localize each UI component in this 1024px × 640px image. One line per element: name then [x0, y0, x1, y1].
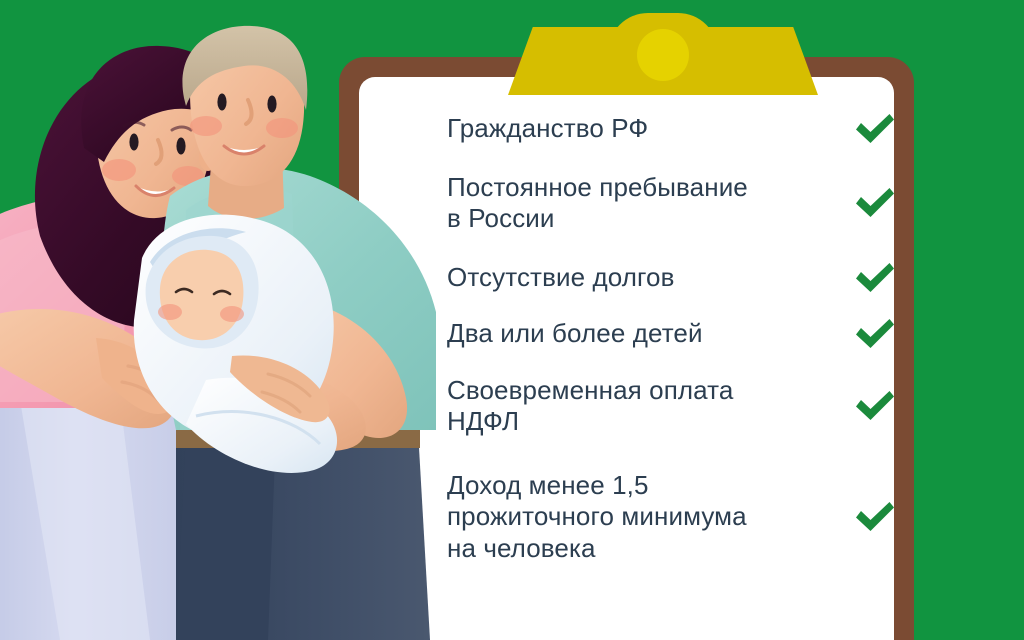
requirements-checklist: Гражданство РФ Постоянное пребывание в Р…	[447, 112, 897, 564]
checklist-item-no-debts: Отсутствие долгов	[447, 261, 897, 295]
checklist-item-ndfl-on-time: Своевременная оплата НДФЛ	[447, 375, 897, 438]
checklist-item-permanent-residence: Постоянное пребывание в России	[447, 172, 897, 235]
check-mark-icon	[853, 112, 897, 146]
checklist-item-label: Гражданство РФ	[447, 113, 648, 144]
checklist-item-label: Своевременная оплата НДФЛ	[447, 375, 733, 438]
checklist-item-label: Два или более детей	[447, 318, 703, 349]
clip-hole-icon	[637, 29, 689, 81]
checklist-item-income-limit: Доход менее 1,5 прожиточного минимума на…	[447, 470, 897, 564]
family-with-baby-illustration	[0, 0, 440, 640]
check-mark-icon	[853, 317, 897, 351]
checklist-item-label: Отсутствие долгов	[447, 262, 675, 293]
checklist-item-two-or-more-kids: Два или более детей	[447, 317, 897, 351]
checklist-item-label: Постоянное пребывание в России	[447, 172, 748, 235]
check-mark-icon	[853, 186, 897, 220]
check-mark-icon	[853, 261, 897, 295]
poster-canvas: Гражданство РФ Постоянное пребывание в Р…	[0, 0, 1024, 640]
checklist-item-label: Доход менее 1,5 прожиточного минимума на…	[447, 470, 747, 564]
checklist-item-citizenship: Гражданство РФ	[447, 112, 897, 146]
check-mark-icon	[853, 389, 897, 423]
check-mark-icon	[853, 500, 897, 534]
